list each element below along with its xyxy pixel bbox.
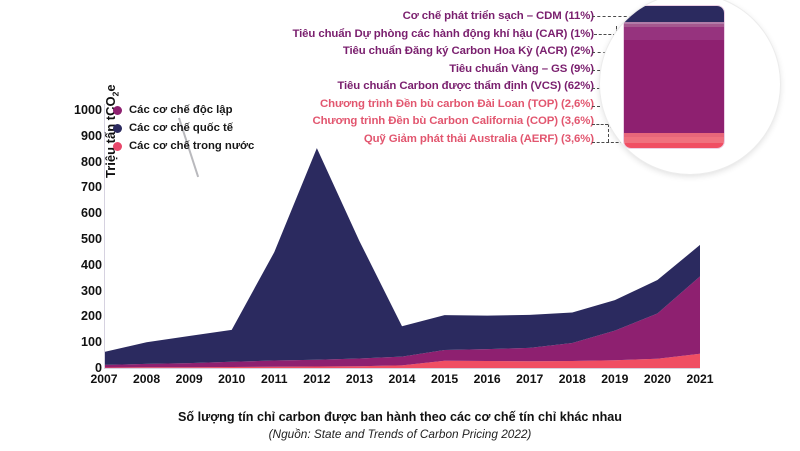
legend-color-dot xyxy=(113,106,122,115)
legend-color-dot xyxy=(113,142,122,151)
x-axis-tick-labels: 2007200820092010201120122013201420152016… xyxy=(0,372,800,392)
x-axis-tick: 2008 xyxy=(133,372,160,386)
x-axis-tick: 2016 xyxy=(474,372,501,386)
y-axis-tick: 1000 xyxy=(74,103,102,117)
x-axis-tick: 2013 xyxy=(346,372,373,386)
y-axis-tick: 200 xyxy=(81,309,102,323)
y-axis-tick: 300 xyxy=(81,284,102,298)
caption-source: (Nguồn: State and Trends of Carbon Prici… xyxy=(0,426,800,443)
chart-legend: Các cơ chế độc lậpCác cơ chế quốc tếCác … xyxy=(113,102,254,156)
legend-item[interactable]: Các cơ chế quốc tế xyxy=(113,120,254,136)
y-axis-tick: 900 xyxy=(81,129,102,143)
x-axis-tick: 2018 xyxy=(559,372,586,386)
x-axis-tick: 2010 xyxy=(218,372,245,386)
x-axis-tick: 2017 xyxy=(516,372,543,386)
x-axis-tick: 2021 xyxy=(686,372,713,386)
caption-main: Số lượng tín chỉ carbon được ban hành th… xyxy=(0,409,800,426)
x-axis-line xyxy=(104,368,700,369)
chart-area: 01002003004005006007008009001000 Triệu t… xyxy=(0,0,800,400)
x-axis-tick: 2020 xyxy=(644,372,671,386)
y-axis-tick: 100 xyxy=(81,335,102,349)
chart-caption: Số lượng tín chỉ carbon được ban hành th… xyxy=(0,409,800,443)
legend-label: Các cơ chế độc lập xyxy=(129,104,232,116)
legend-item[interactable]: Các cơ chế trong nước xyxy=(113,138,254,154)
y-axis-tick: 800 xyxy=(81,155,102,169)
x-axis-tick: 2014 xyxy=(388,372,415,386)
y-axis-tick: 500 xyxy=(81,232,102,246)
x-axis-tick: 2019 xyxy=(601,372,628,386)
x-axis-tick: 2007 xyxy=(90,372,117,386)
legend-label: Các cơ chế quốc tế xyxy=(129,122,233,134)
y-axis-tick: 700 xyxy=(81,180,102,194)
stacked-area-plot xyxy=(0,0,800,400)
infographic-root: Cơ chế phát triển sạch – CDM (11%)Tiêu c… xyxy=(0,0,800,451)
x-axis-tick: 2009 xyxy=(176,372,203,386)
legend-item[interactable]: Các cơ chế độc lập xyxy=(113,102,254,118)
y-axis-tick: 600 xyxy=(81,206,102,220)
x-axis-tick: 2011 xyxy=(261,372,287,386)
legend-color-dot xyxy=(113,124,122,133)
legend-label: Các cơ chế trong nước xyxy=(129,140,254,152)
x-axis-tick: 2012 xyxy=(303,372,330,386)
x-axis-tick: 2015 xyxy=(431,372,458,386)
y-axis-tick: 400 xyxy=(81,258,102,272)
